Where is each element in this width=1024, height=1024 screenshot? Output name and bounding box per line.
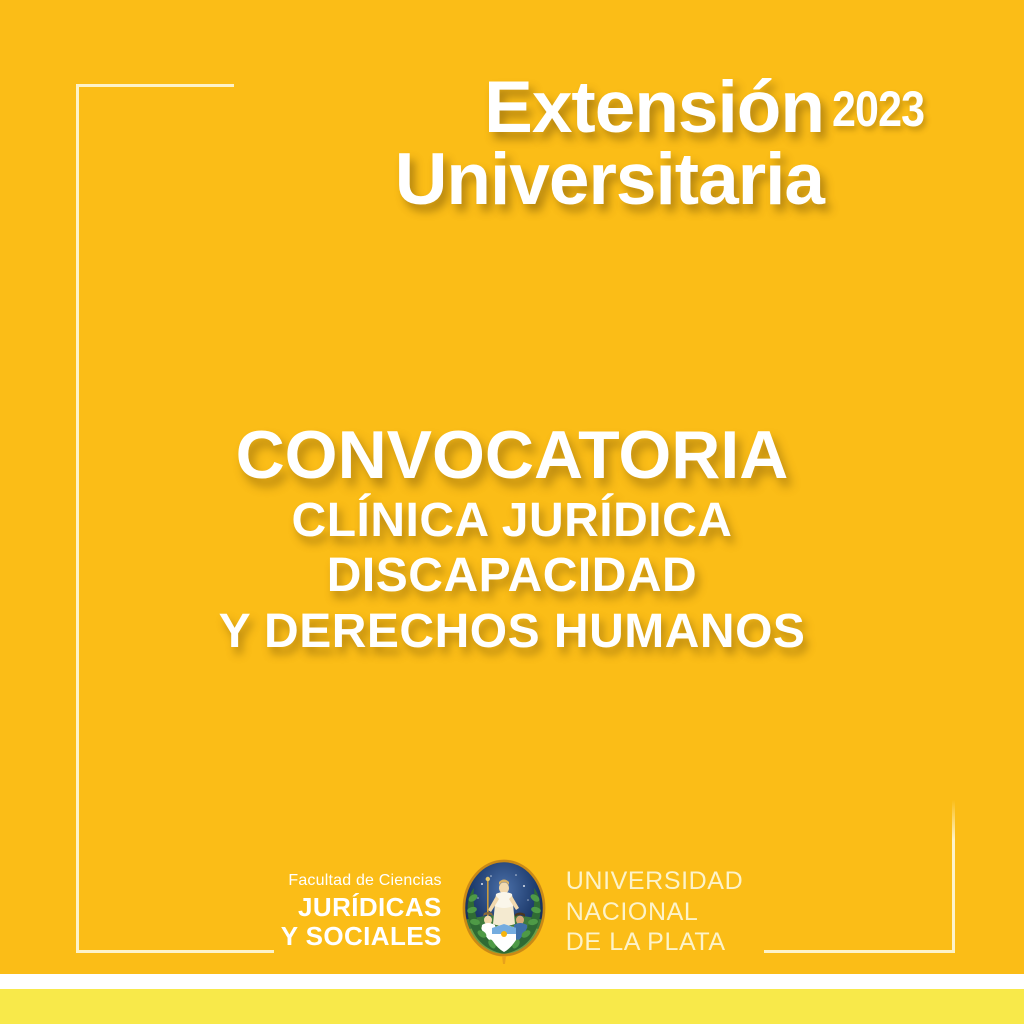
header-title: Extensión Universitaria xyxy=(0,72,824,217)
headline-primary: CONVOCATORIA xyxy=(0,420,1024,491)
header-year: 2023 xyxy=(832,84,924,134)
faculty-logo-name: JURÍDICAS Y SOCIALES xyxy=(281,893,442,951)
poster-canvas: Extensión Universitaria 2023 CONVOCATORI… xyxy=(0,0,1024,1024)
faculty-logo-top-line: Facultad de Ciencias xyxy=(281,873,442,889)
poster-white-divider xyxy=(0,974,1024,989)
unlp-coat-of-arms-icon xyxy=(458,858,550,966)
faculty-logo: Facultad de Ciencias JURÍDICAS Y SOCIALE… xyxy=(281,873,458,951)
poster-header: Extensión Universitaria 2023 xyxy=(0,72,1024,252)
poster-headline-block: CONVOCATORIA CLÍNICA JURÍDICA DISCAPACID… xyxy=(0,420,1024,660)
university-name: UNIVERSIDAD NACIONAL DE LA PLATA xyxy=(550,866,743,958)
poster-accent-stripe xyxy=(0,989,1024,1024)
headline-secondary: CLÍNICA JURÍDICA DISCAPACIDAD Y DERECHOS… xyxy=(0,493,1024,660)
poster-footer: Facultad de Ciencias JURÍDICAS Y SOCIALE… xyxy=(0,858,1024,966)
